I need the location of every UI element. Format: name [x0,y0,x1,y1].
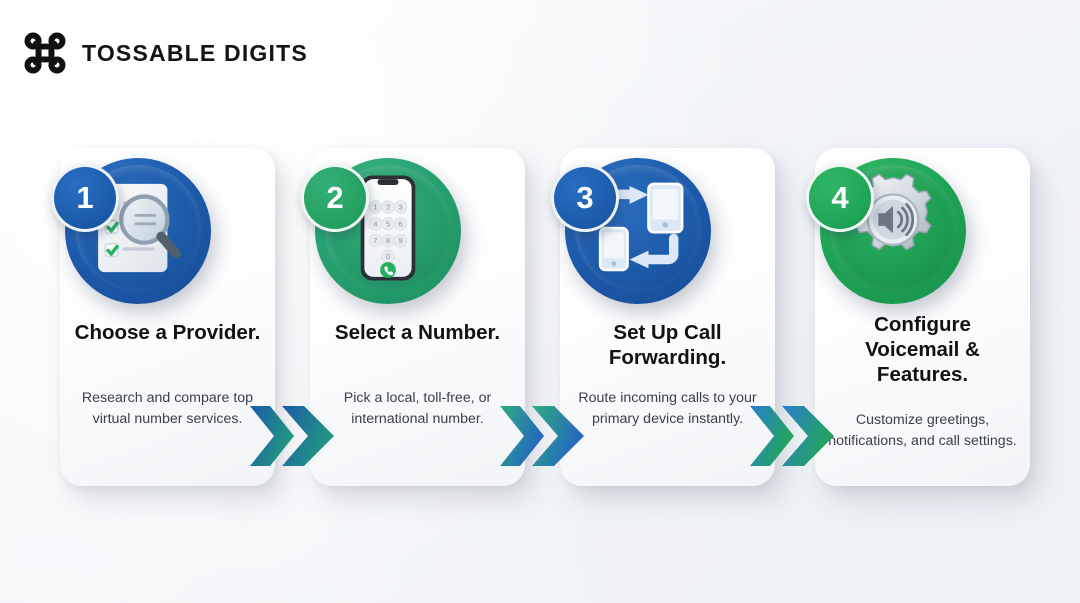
step-4-title: Configure Voicemail & Features. [825,312,1020,387]
step-card-4[interactable]: 4 Configure Voicemail & Features. Custom… [815,148,1030,486]
svg-text:0: 0 [386,252,390,261]
step-3-description: Route incoming calls to your primary dev… [570,388,765,431]
step-3-illustration: 3 [551,152,711,312]
step-1-title: Choose a Provider. [70,320,265,345]
brand-logo: TOSSABLE DIGITS [22,30,308,76]
svg-text:9: 9 [399,236,403,245]
step-3-badge: 3 [551,164,619,232]
step-card-2[interactable]: 123 456 789 0 2 Select a Number. Pick a … [310,148,525,486]
step-4-description: Customize greetings, notifications, and … [825,410,1020,453]
svg-text:1: 1 [373,203,377,212]
step-1-badge: 1 [51,164,119,232]
svg-text:3: 3 [399,203,403,212]
svg-text:5: 5 [386,219,390,228]
brand-name: TOSSABLE DIGITS [82,40,308,67]
step-2-title: Select a Number. [320,320,515,345]
connector-arrow-2 [498,400,590,472]
connector-arrow-1 [248,400,340,472]
svg-text:8: 8 [386,236,390,245]
step-card-1[interactable]: 1 Choose a Provider. Research and compar… [60,148,275,486]
step-4-illustration: 4 [806,152,966,312]
step-2-badge: 2 [301,164,369,232]
step-1-illustration: 1 [51,152,211,312]
command-loop-icon [22,30,68,76]
step-2-illustration: 123 456 789 0 2 [301,152,461,312]
svg-text:4: 4 [373,219,377,228]
step-2-description: Pick a local, toll-free, or internationa… [320,388,515,431]
svg-text:2: 2 [386,203,390,212]
svg-text:6: 6 [399,219,403,228]
connector-arrow-3 [748,400,840,472]
steps-row: 1 Choose a Provider. Research and compar… [0,148,1080,498]
step-4-badge: 4 [806,164,874,232]
svg-text:7: 7 [373,236,377,245]
step-card-3[interactable]: 3 Set Up Call Forwarding. Route incoming… [560,148,775,486]
step-3-title: Set Up Call Forwarding. [570,320,765,370]
step-1-description: Research and compare top virtual number … [70,388,265,431]
